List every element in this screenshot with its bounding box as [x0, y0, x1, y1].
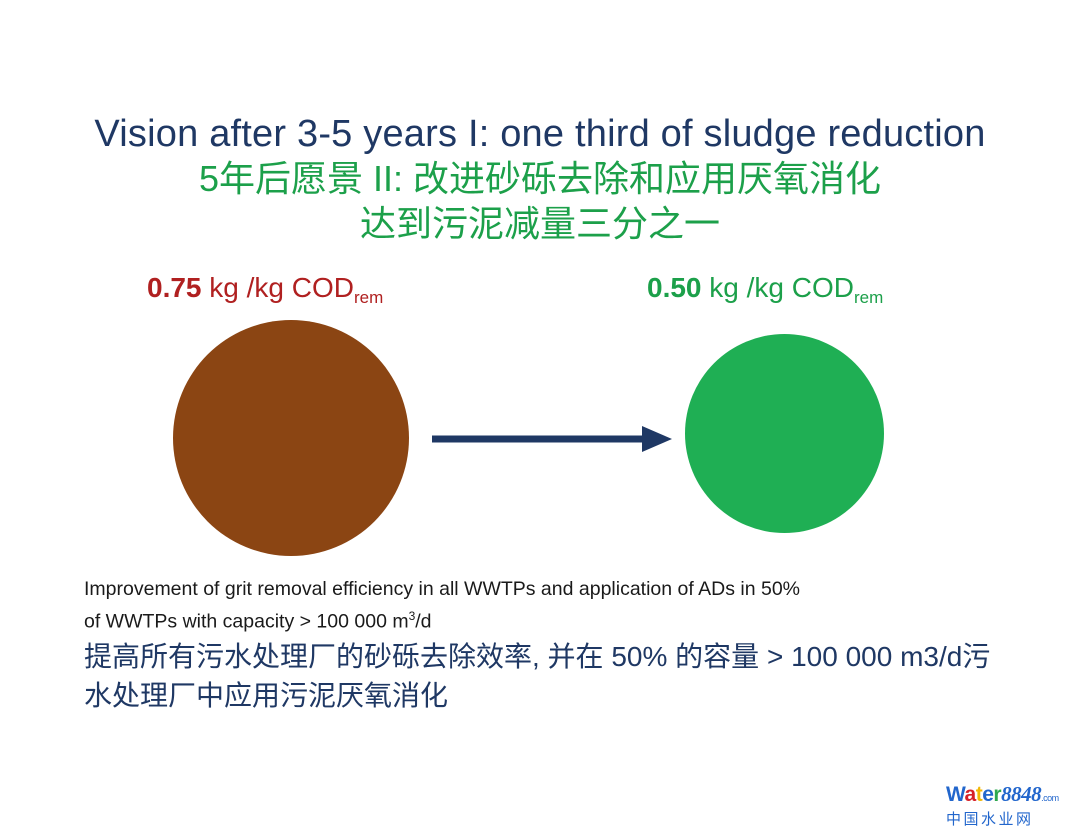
right-arrow-icon: [432, 418, 672, 460]
title-chinese-line2: 达到污泥减量三分之一: [0, 202, 1080, 246]
slide-canvas: Vision after 3-5 years I: one third of s…: [0, 0, 1080, 834]
after-value-label: 0.50 kg /kg CODrem: [647, 272, 883, 308]
before-unit-subscript: rem: [354, 288, 383, 307]
before-value-number: 0.75: [147, 272, 202, 303]
after-unit-text: kg /kg COD: [709, 272, 854, 303]
after-sludge-circle: [685, 334, 884, 533]
watermark-digits: 8848: [1001, 782, 1041, 806]
caption-chinese: 提高所有污水处理厂的砂砾去除效率, 并在 50% 的容量 > 100 000 m…: [84, 637, 1004, 715]
caption-en-line2-suffix: /d: [415, 611, 431, 633]
caption-en-line2-prefix: of WWTPs with capacity > 100 000 m: [84, 611, 409, 633]
title-chinese-line1: 5年后愿景 II: 改进砂砾去除和应用厌氧消化: [0, 157, 1080, 201]
watermark-letter-r: r: [993, 783, 1001, 806]
caption-english-line1: Improvement of grit removal efficiency i…: [84, 576, 1004, 603]
watermark-letter-a: a: [965, 783, 976, 806]
title-block: Vision after 3-5 years I: one third of s…: [0, 112, 1080, 246]
after-value-number: 0.50: [647, 272, 702, 303]
before-value-label: 0.75 kg /kg CODrem: [147, 272, 383, 308]
watermark-chinese: 中国水业网: [946, 810, 1074, 829]
watermark-domain-suffix: .com: [1041, 793, 1059, 803]
watermark-letter-w: W: [946, 783, 965, 806]
watermark-logo: Water8848.com 中国水业网: [946, 783, 1074, 829]
before-sludge-circle: [173, 320, 409, 556]
watermark-letter-e: e: [982, 783, 993, 806]
watermark-wordmark: Water8848.com: [946, 783, 1074, 810]
before-unit-text: kg /kg COD: [209, 272, 354, 303]
after-unit-subscript: rem: [854, 288, 883, 307]
title-english: Vision after 3-5 years I: one third of s…: [0, 112, 1080, 156]
caption-english-line2: of WWTPs with capacity > 100 000 m3/d: [84, 603, 1004, 636]
caption-english: Improvement of grit removal efficiency i…: [84, 576, 1004, 636]
